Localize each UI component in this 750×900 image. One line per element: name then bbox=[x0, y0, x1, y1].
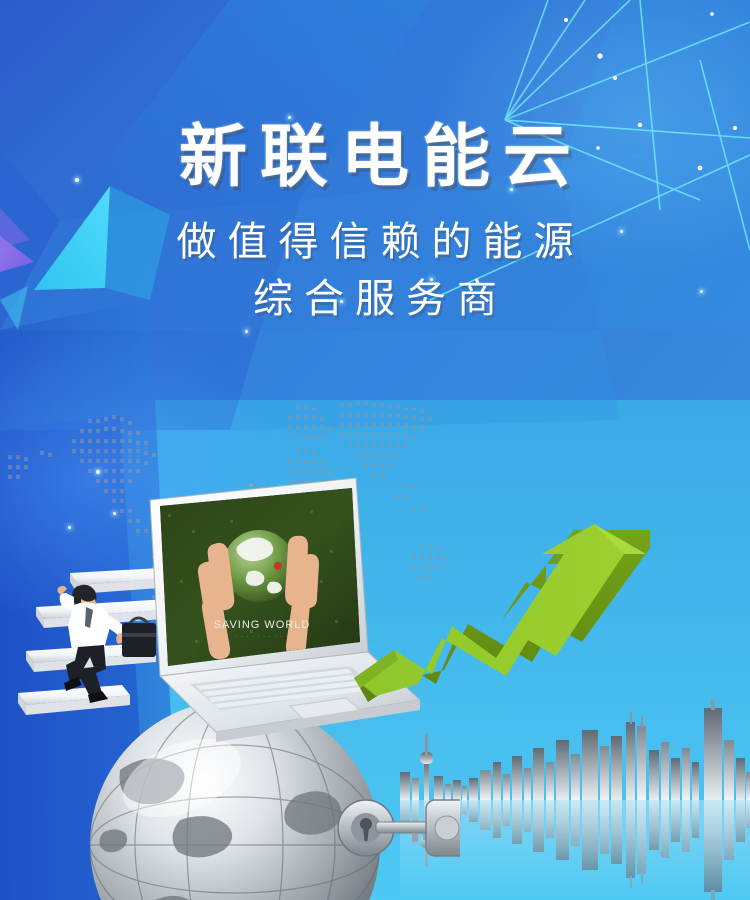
screen-caption: SAVING WORLD bbox=[214, 619, 311, 631]
page-title: 新联电能云 bbox=[0, 124, 750, 192]
svg-text:· · · · · · · · · ·: · · · · · · · · · · bbox=[236, 634, 289, 639]
subtitle-line-2: 综合服务商 bbox=[0, 271, 750, 328]
screen-artwork: SAVING WORLD · · · · · · · · · · bbox=[160, 488, 360, 666]
subtitle-block: 做值得信赖的能源 综合服务商 bbox=[0, 214, 750, 328]
key-icon bbox=[376, 800, 460, 856]
green-growth-arrow bbox=[350, 520, 680, 720]
stair-step bbox=[18, 685, 130, 715]
subtitle-line-1: 做值得信赖的能源 bbox=[0, 214, 750, 271]
headline-block: 新联电能云 做值得信赖的能源 综合服务商 bbox=[0, 124, 750, 328]
promotional-banner: 新联电能云 做值得信赖的能源 综合服务商 bbox=[0, 0, 750, 900]
